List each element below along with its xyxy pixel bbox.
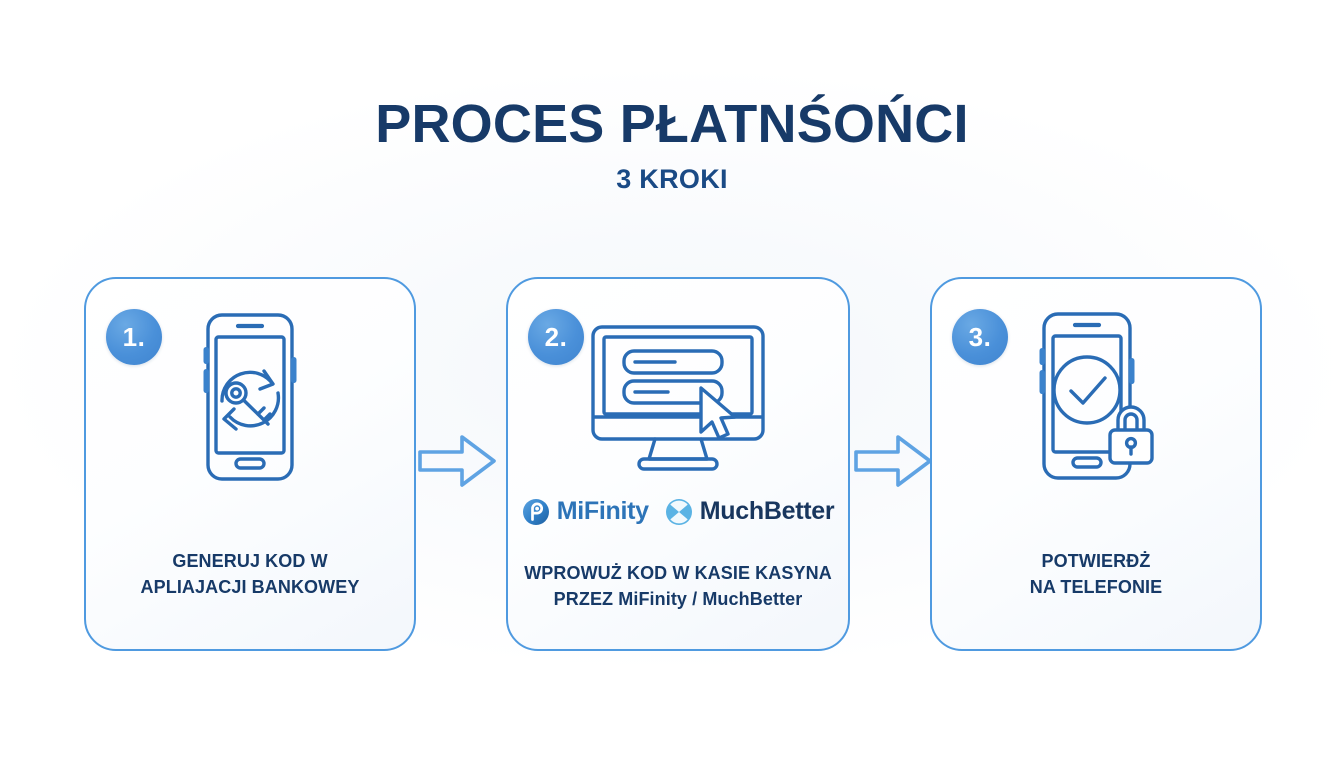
step-caption-2-line-1: WPROWUŻ KOD W KASIE KASYNA bbox=[518, 560, 838, 587]
arrow-step2-to-step3 bbox=[854, 432, 932, 490]
header: PROCES PŁATNŚOŃCI 3 KROKI bbox=[0, 96, 1344, 195]
mifinity-logo-text: MiFinity bbox=[557, 497, 649, 526]
page-title: PROCES PŁATNŚOŃCI bbox=[0, 96, 1344, 152]
step-card-1[interactable]: 1. bbox=[84, 277, 416, 651]
page-subtitle: 3 KROKI bbox=[0, 164, 1344, 195]
step-caption-1: GENERUJ KOD W APLIAJACJI BANKOWEY bbox=[96, 548, 404, 601]
step-caption-2-line-2: PRZEZ MiFinity / MuchBetter bbox=[518, 586, 838, 613]
payment-logos: MiFinity MuchBetter bbox=[508, 497, 848, 526]
step-icon-3-slot bbox=[932, 317, 1260, 477]
phone-check-lock-icon bbox=[1026, 308, 1166, 486]
phone-key-refresh-icon bbox=[186, 309, 314, 485]
monitor-form-cursor-icon bbox=[583, 322, 773, 472]
step-caption-3: POTWIERĐŻ NA TELEFONIE bbox=[942, 548, 1250, 601]
step-icon-2-slot bbox=[508, 321, 848, 473]
muchbetter-mark-icon bbox=[665, 498, 693, 526]
infographic-stage: PROCES PŁATNŚOŃCI 3 KROKI 1. bbox=[0, 0, 1344, 768]
mifinity-mark-icon bbox=[522, 498, 550, 526]
arrow-step1-to-step2 bbox=[418, 432, 496, 490]
step-caption-3-line-2: NA TELEFONIE bbox=[942, 574, 1250, 601]
step-card-3[interactable]: 3. bbox=[930, 277, 1262, 651]
step-icon-1-slot bbox=[86, 317, 414, 477]
step-card-2[interactable]: 2. bbox=[506, 277, 850, 651]
mifinity-logo[interactable]: MiFinity bbox=[522, 497, 649, 526]
muchbetter-logo-text: MuchBetter bbox=[700, 497, 835, 526]
muchbetter-logo[interactable]: MuchBetter bbox=[665, 497, 835, 526]
step-caption-3-line-1: POTWIERĐŻ bbox=[942, 548, 1250, 575]
step-caption-1-line-1: GENERUJ KOD W bbox=[96, 548, 404, 575]
step-caption-2: WPROWUŻ KOD W KASIE KASYNA PRZEZ MiFinit… bbox=[518, 560, 838, 613]
step-caption-1-line-2: APLIAJACJI BANKOWEY bbox=[96, 574, 404, 601]
